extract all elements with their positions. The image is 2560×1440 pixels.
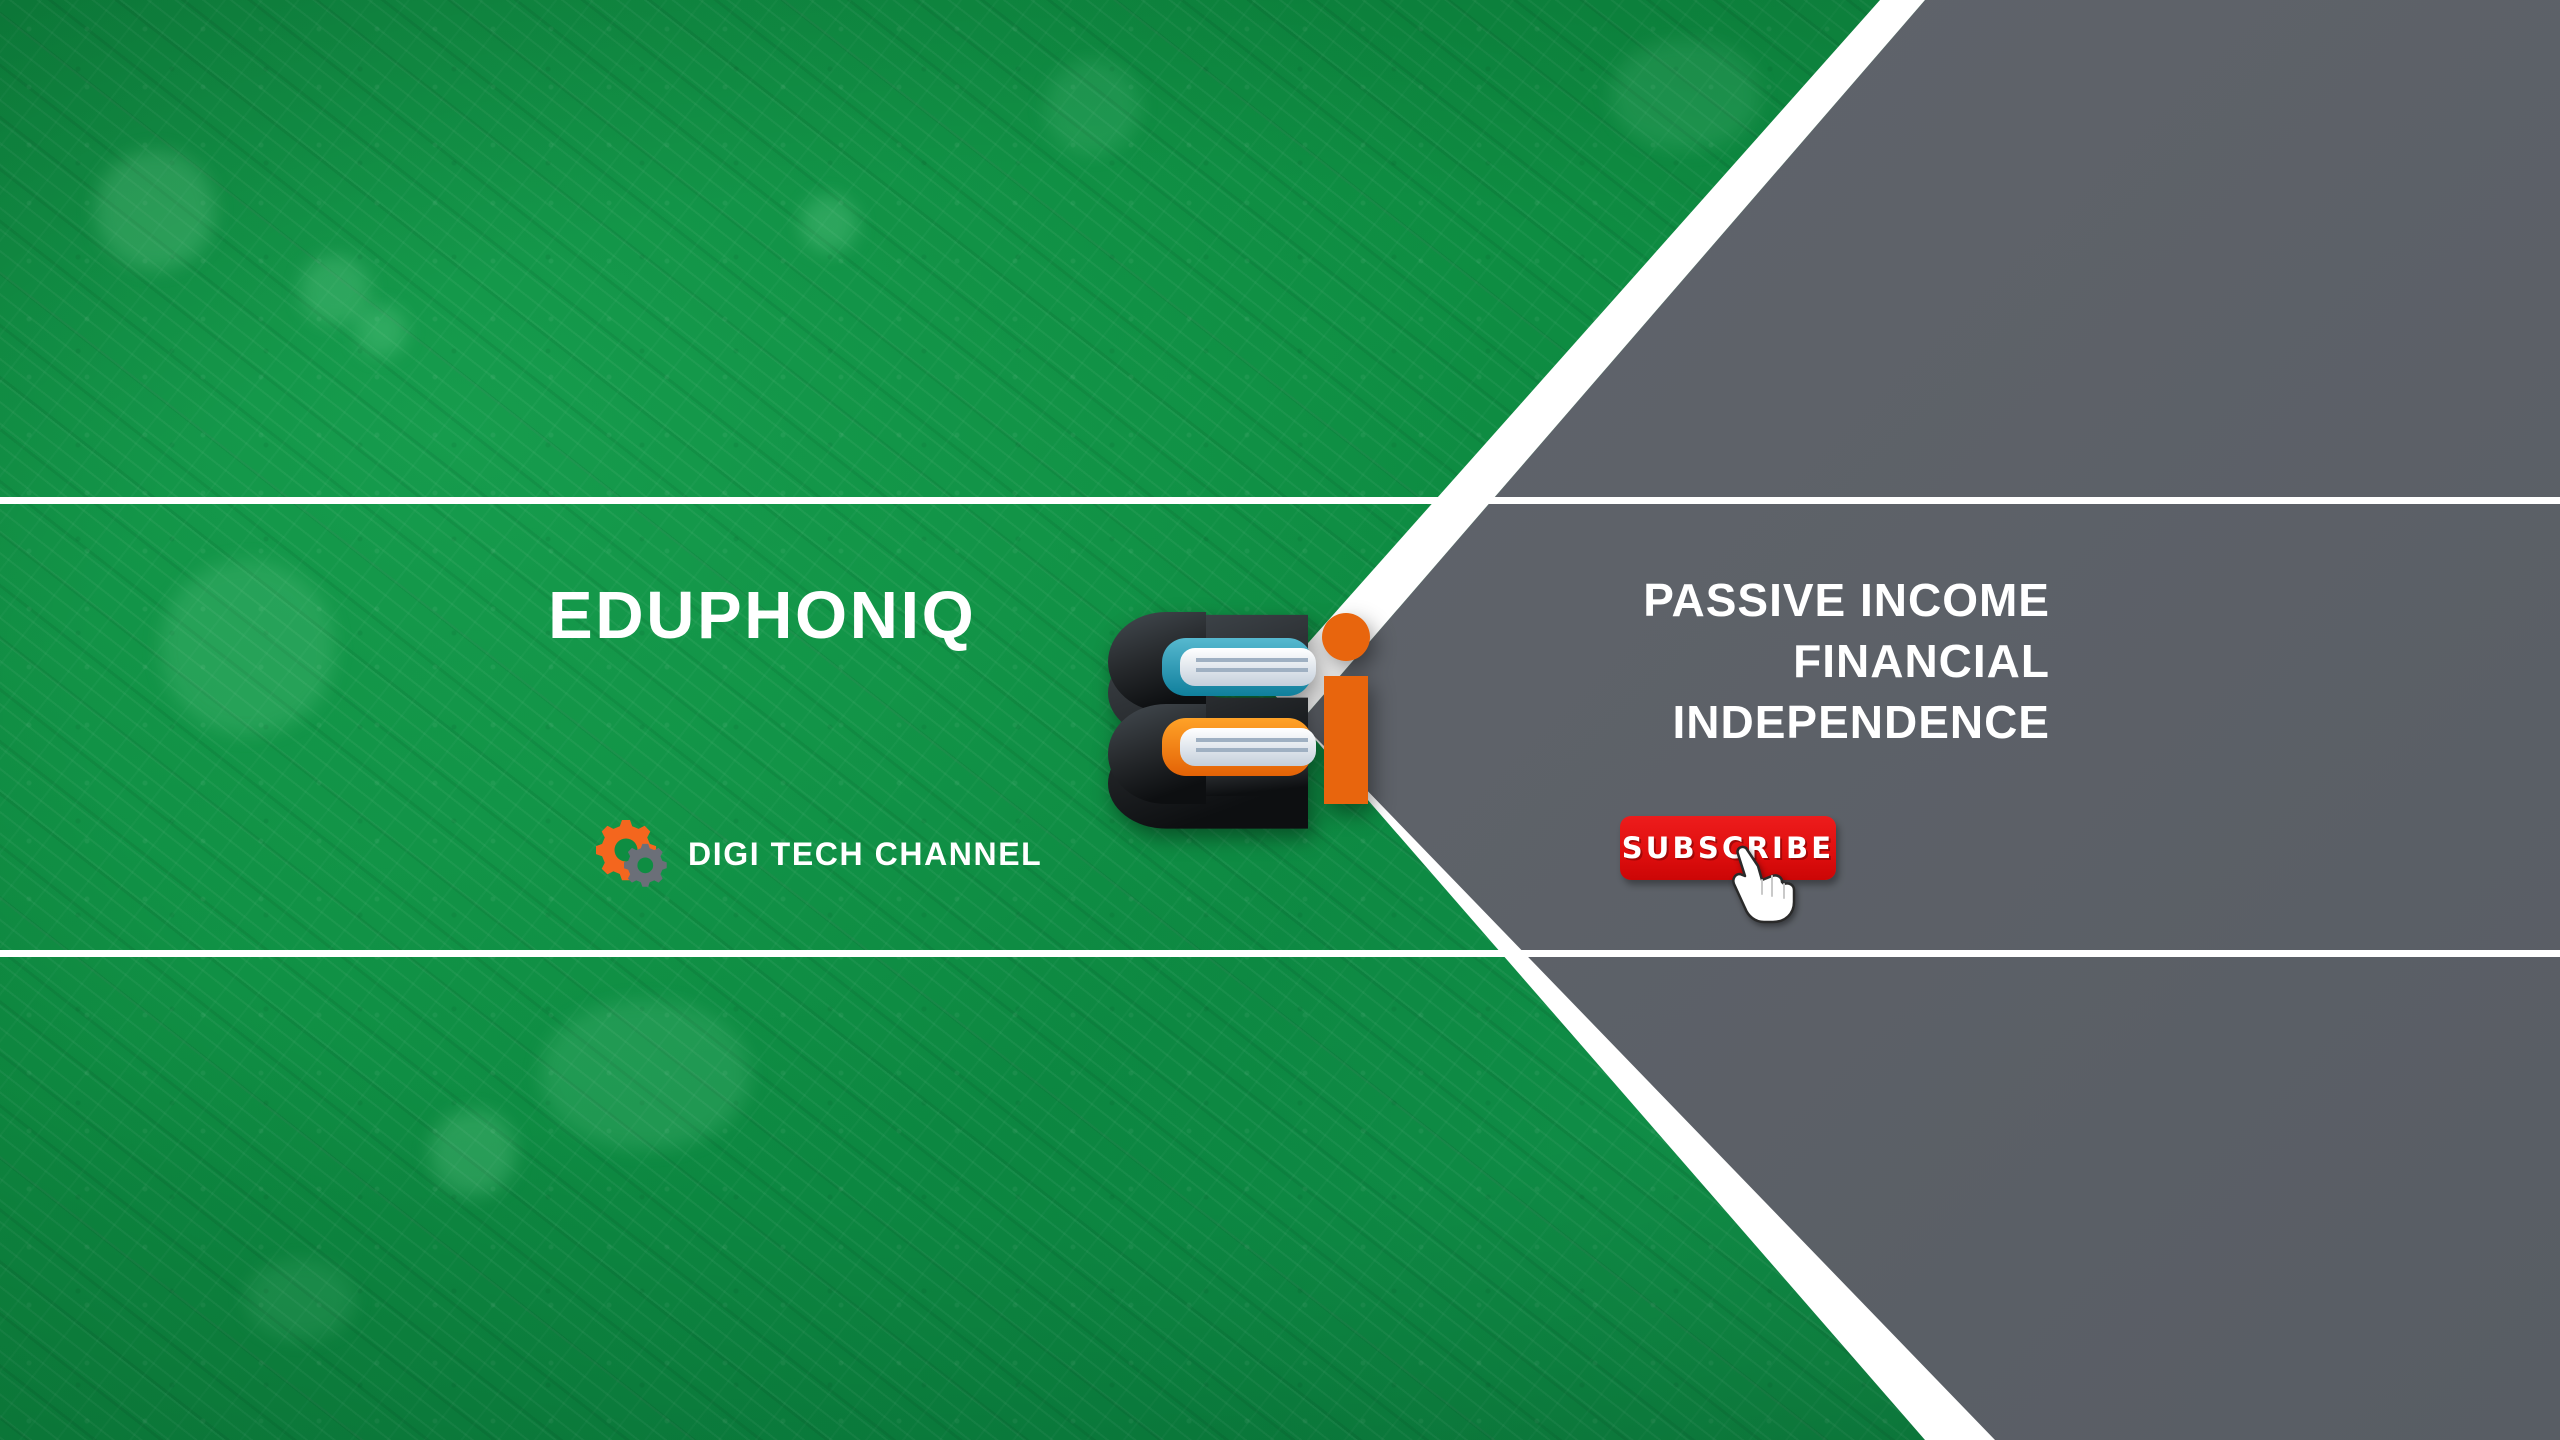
tagline-row: DIGI TECH CHANNEL: [596, 818, 1042, 890]
brand-title: EDUPHONIQ: [548, 582, 976, 649]
promo-line-1: PASSIVE INCOME: [1290, 570, 2050, 631]
youtube-channel-banner: EDUPHONIQ DIGI TECH CHANNEL: [0, 0, 2560, 1440]
horizontal-rule-bottom: [0, 950, 2560, 957]
promo-text-block: PASSIVE INCOME FINANCIAL INDEPENDENCE: [1290, 570, 2050, 754]
promo-line-3: INDEPENDENCE: [1290, 692, 2050, 753]
subscribe-area: SUBSCRIBE: [1620, 816, 1880, 926]
gear-icon-gray: [624, 843, 674, 891]
pointing-hand-cursor: [1728, 844, 1802, 926]
horizontal-rule-top: [0, 497, 2560, 504]
gear-icon-pair: [596, 818, 670, 890]
tagline-text: DIGI TECH CHANNEL: [688, 836, 1042, 873]
promo-line-2: FINANCIAL: [1290, 631, 2050, 692]
